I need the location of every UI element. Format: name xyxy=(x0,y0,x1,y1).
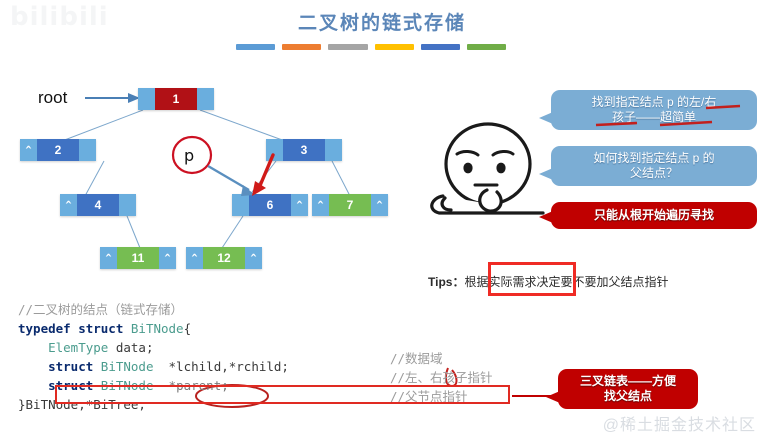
node-11-value: 11 xyxy=(117,247,159,269)
node-6-left-pointer xyxy=(232,194,249,216)
node-11-left-pointer: ^ xyxy=(100,247,117,269)
speech-bubble-1: 找到指定结点 p 的左/右 孩子——超简单 xyxy=(551,90,757,130)
bubble-1-tail xyxy=(539,112,553,124)
parent-line-highlight-box xyxy=(55,385,510,404)
code-line-4-rest: *lchild,*rchild; xyxy=(153,359,288,374)
node-1-right-pointer xyxy=(197,88,214,110)
node-4-right-pointer xyxy=(119,194,136,216)
tree-node-2[interactable]: ^ 2 xyxy=(20,139,96,161)
tree-node-12[interactable]: ^ 12 ^ xyxy=(186,247,262,269)
bubble-2-tail xyxy=(539,168,553,180)
tree-node-7[interactable]: ^ 7 ^ xyxy=(312,194,388,216)
code-line-4-kw: struct xyxy=(48,359,101,374)
node-1-left-pointer xyxy=(138,88,155,110)
bubble-2-line-2: 父结点？ xyxy=(559,166,749,181)
tips-highlight-box xyxy=(488,262,576,296)
node-4-value: 4 xyxy=(77,194,119,216)
speech-bubble-3: 只能从根开始遍历寻找 xyxy=(551,202,757,229)
speech-bubble-4: 三叉链表——方便 找父结点 xyxy=(558,369,698,409)
bubble-3-tail xyxy=(539,211,553,223)
node-7-value: 7 xyxy=(329,194,371,216)
node-4-left-pointer: ^ xyxy=(60,194,77,216)
node-12-left-pointer: ^ xyxy=(186,247,203,269)
code-line-2-kw: typedef struct xyxy=(18,321,131,336)
node-3-value: 3 xyxy=(283,139,325,161)
code-comment-children: //左、右孩子指针 xyxy=(390,367,493,386)
node-1-value: 1 xyxy=(155,88,197,110)
code-line-3-type: ElemType xyxy=(48,340,108,355)
code-line-3-rest: data; xyxy=(108,340,153,355)
tree-node-4[interactable]: ^ 4 xyxy=(60,194,136,216)
node-6-right-pointer: ^ xyxy=(291,194,308,216)
slide-canvas: bilibili @稀土掘金技术社区 二叉树的链式存储 root xyxy=(0,0,764,437)
tips-label: Tips： xyxy=(428,275,464,289)
node-3-right-pointer xyxy=(325,139,342,161)
tree-node-3[interactable]: 3 xyxy=(266,139,342,161)
bubble-2-line-1: 如何找到指定结点 p 的 xyxy=(559,151,749,166)
bubble-4-line-2: 找父结点 xyxy=(566,389,690,404)
node-7-left-pointer: ^ xyxy=(312,194,329,216)
bubble-1-line-2: 孩子——超简单 xyxy=(559,110,749,125)
tree-node-6[interactable]: 6 ^ xyxy=(232,194,308,216)
node-12-right-pointer: ^ xyxy=(245,247,262,269)
node-3-left-pointer xyxy=(266,139,283,161)
bubble-4-line-1: 三叉链表——方便 xyxy=(566,374,690,389)
tree-node-1[interactable]: 1 xyxy=(138,88,214,110)
node-11-right-pointer: ^ xyxy=(159,247,176,269)
code-line-2-brace: { xyxy=(184,321,192,336)
node-6-value: 6 xyxy=(249,194,291,216)
speech-bubble-2: 如何找到指定结点 p 的 父结点？ xyxy=(551,146,757,186)
code-line-2-type: BiTNode xyxy=(131,321,184,336)
tree-node-11[interactable]: ^ 11 ^ xyxy=(100,247,176,269)
bubble-1-line-1: 找到指定结点 p 的左/右 xyxy=(559,95,749,110)
node-2-right-pointer xyxy=(79,139,96,161)
code-comment-data: //数据域 xyxy=(390,348,443,367)
code-line-1: //二叉树的结点（链式存储） xyxy=(18,302,183,317)
node-2-left-pointer: ^ xyxy=(20,139,37,161)
bubble-3-line-1: 只能从根开始遍历寻找 xyxy=(559,208,749,223)
bubble-4-tail xyxy=(546,391,560,403)
node-7-right-pointer: ^ xyxy=(371,194,388,216)
node-2-value: 2 xyxy=(37,139,79,161)
thinking-character-icon xyxy=(425,112,555,242)
p-pointer-label: p xyxy=(184,146,194,165)
code-line-4-type: BiTNode xyxy=(101,359,154,374)
node-12-value: 12 xyxy=(203,247,245,269)
